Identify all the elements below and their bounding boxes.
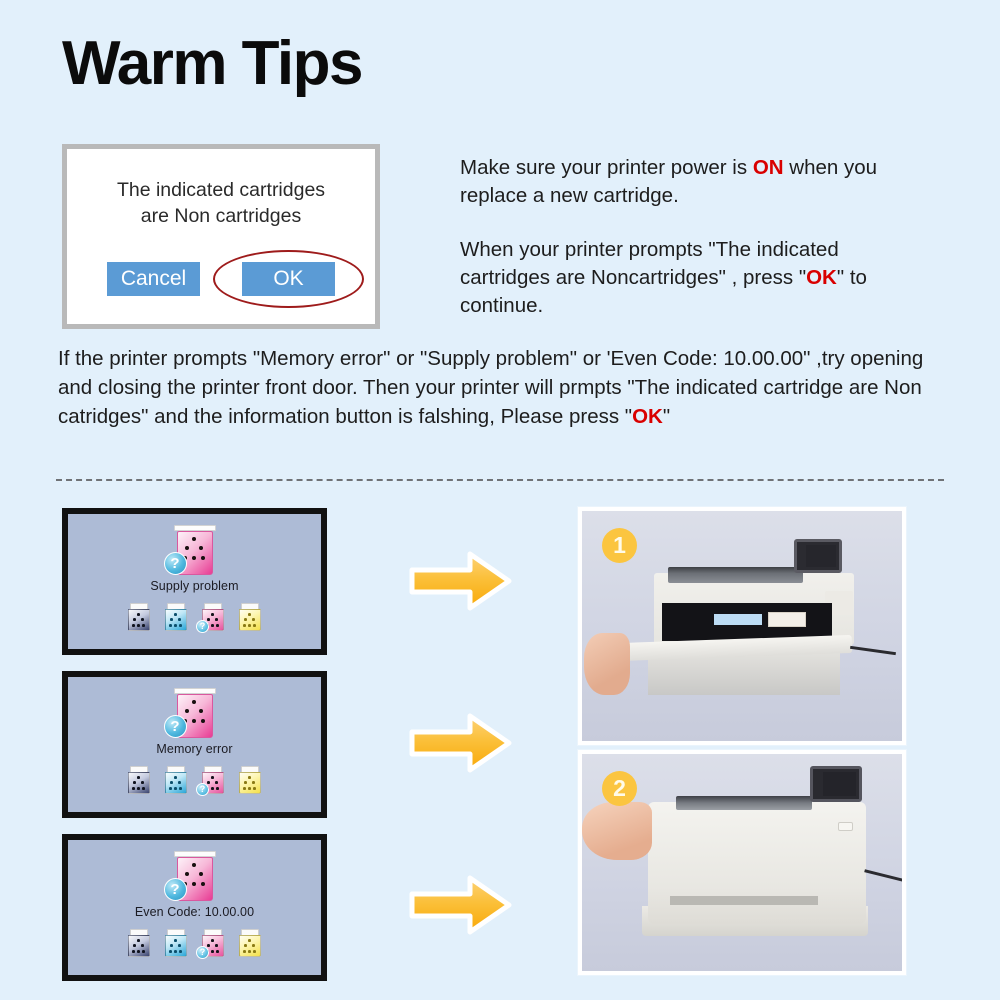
cartridge-small-yellow [239,929,261,957]
photo-1-image: 1 [582,511,902,741]
cartridge-small-cyan [165,929,187,957]
tip-1-highlight: ON [753,156,784,179]
panel-status-label: Memory error [156,742,232,756]
dashed-divider [56,479,944,481]
cartridge-large-icon: ? [164,851,226,903]
printer-door-seam [670,896,818,905]
arrow-right-icon [408,710,513,776]
dialog-button-row: Cancel OK [67,262,375,296]
page-title: Warm Tips [62,31,362,96]
printer-screen-panel: ? Memory error ? [62,671,327,818]
question-mark-icon-small: ? [196,946,209,959]
cartridge-small-black [128,603,150,631]
dialog-message: The indicated cartridges are Non cartrid… [67,177,375,230]
photo-2-image: 2 [582,754,902,971]
cartridge-small-black [128,929,150,957]
printer-screen-panel: ? Even Code: 10.00.00 ? [62,834,327,981]
cartridge-sticker [768,612,806,627]
tip-3-highlight: OK [632,405,663,428]
question-mark-icon-small: ? [196,620,209,633]
printer-output-tray [648,653,840,695]
cartridge-large-icon: ? [164,525,226,577]
document-page: Warm Tips The indicated cartridges are N… [0,0,1000,1000]
tip-2-highlight: OK [806,266,837,289]
ok-button[interactable]: OK [242,262,335,296]
step-badge: 2 [602,771,637,806]
printer-control-screen [794,539,842,573]
printer-chassis [648,802,866,924]
cartridge-blue-label [714,614,762,625]
printer-screen-panels: ? Supply problem ? [62,508,327,981]
ok-button-wrapper: OK [242,262,335,296]
printer-power-button [838,822,853,831]
panel-status-label: Even Code: 10.00.00 [135,905,254,919]
photo-step-1: 1 [578,507,906,745]
cartridge-small-magenta: ? [202,766,224,794]
question-mark-icon: ? [164,878,187,901]
tip-2-text-a: When your printer prompts "The indicated… [460,238,839,289]
cartridge-status-row: ? [128,766,261,794]
photo-step-2: 2 [578,750,906,975]
hand [582,802,652,860]
cartridge-small-magenta: ? [202,603,224,631]
cartridge-status-row: ? [128,603,261,631]
dialog-message-line-2: are Non cartridges [67,203,375,229]
printer-top-lid [676,796,812,810]
hand [584,633,630,695]
cancel-button[interactable]: Cancel [107,262,200,296]
question-mark-icon: ? [164,715,187,738]
tip-3-text-b: " [663,405,670,428]
printer-top-lid [668,567,803,583]
tip-1-text-a: Make sure your printer power is [460,156,753,179]
step-badge: 1 [602,528,637,563]
tips-right-column: Make sure your printer power is ON when … [460,154,930,320]
panel-status-label: Supply problem [150,579,238,593]
dialog-message-line-1: The indicated cartridges [67,177,375,203]
cartridge-small-black [128,766,150,794]
question-mark-icon: ? [164,552,187,575]
tip-2: When your printer prompts "The indicated… [460,236,930,321]
cartridge-small-yellow [239,766,261,794]
cartridge-small-cyan [165,766,187,794]
cartridge-small-yellow [239,603,261,631]
arrow-right-icon [408,872,513,938]
printer-control-screen [810,766,862,802]
tip-3: If the printer prompts "Memory error" or… [58,344,958,431]
cartridge-small-magenta: ? [202,929,224,957]
question-mark-icon-small: ? [196,783,209,796]
cartridge-status-row: ? [128,929,261,957]
arrow-right-icon [408,548,513,614]
cartridge-small-cyan [165,603,187,631]
printer-screen-panel: ? Supply problem ? [62,508,327,655]
printer-dialog-mockup: The indicated cartridges are Non cartrid… [62,144,380,329]
tip-3-text-a: If the printer prompts "Memory error" or… [58,347,923,428]
tip-1: Make sure your printer power is ON when … [460,154,930,211]
cartridge-large-icon: ? [164,688,226,740]
